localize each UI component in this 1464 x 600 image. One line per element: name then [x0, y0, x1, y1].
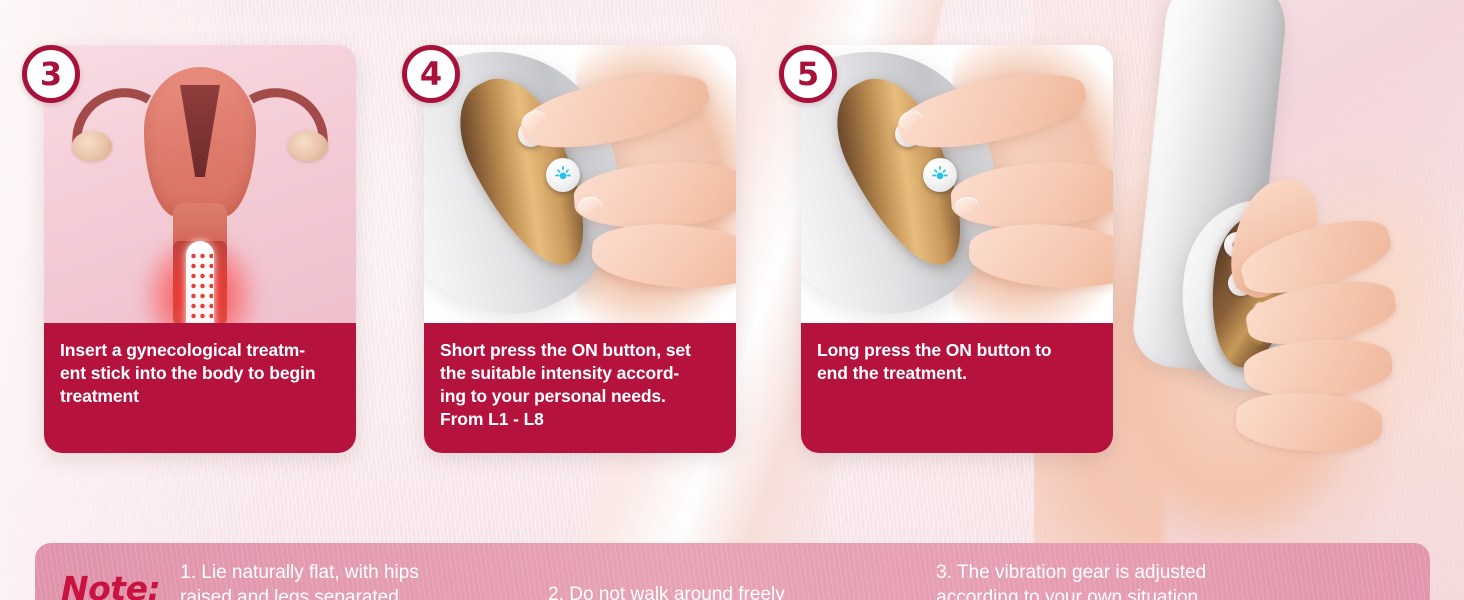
note-item: 1. Lie naturally flat, with hips raised … — [180, 561, 520, 600]
step-card-4[interactable]: Short press the ON button, set the suita… — [424, 45, 736, 453]
note-label: Note: — [61, 569, 160, 600]
step-number-3: 3 — [40, 58, 62, 90]
step-card-3[interactable]: Insert a gynecological treatm- ent stick… — [44, 45, 356, 453]
step-number-badge-4: 4 — [402, 45, 460, 103]
note-panel: Note: 1. Lie naturally flat, with hips r… — [35, 543, 1430, 600]
step-card-5[interactable]: Long press the ON button to end the trea… — [801, 45, 1113, 453]
ovary-right — [288, 131, 328, 161]
device-light-button[interactable] — [923, 158, 957, 192]
treatment-stick-light-dots — [187, 249, 213, 323]
step-3-caption-bar: Insert a gynecological treatm- ent stick… — [44, 323, 356, 453]
step-3-caption-text: Insert a gynecological treatm- ent stick… — [60, 339, 340, 408]
step-5-caption-bar: Long press the ON button to end the trea… — [801, 323, 1113, 453]
ovary-left — [72, 131, 112, 161]
device-scene — [424, 45, 736, 323]
device-scene — [801, 45, 1113, 323]
step-5-photo — [801, 45, 1113, 323]
note-content: Note: 1. Lie naturally flat, with hips r… — [35, 543, 1430, 600]
step-number-4: 4 — [420, 58, 442, 90]
step-4-caption-text: Short press the ON button, set the suita… — [440, 339, 720, 431]
device-light-button[interactable] — [546, 158, 580, 192]
note-item: 2. Do not walk around freely — [548, 561, 908, 600]
step-5-caption-text: Long press the ON button to end the trea… — [817, 339, 1097, 385]
step-4-caption-bar: Short press the ON button, set the suita… — [424, 323, 736, 453]
step-number-badge-5: 5 — [779, 45, 837, 103]
step-3-illustration — [44, 45, 356, 323]
step-number-badge-3: 3 — [22, 45, 80, 103]
step-4-photo — [424, 45, 736, 323]
infographic-canvas: Insert a gynecological treatm- ent stick… — [0, 0, 1464, 600]
note-item: 3. The vibration gear is adjusted accord… — [936, 561, 1404, 600]
note-item-list: 1. Lie naturally flat, with hips raised … — [180, 561, 1404, 600]
step-number-5: 5 — [797, 58, 819, 90]
